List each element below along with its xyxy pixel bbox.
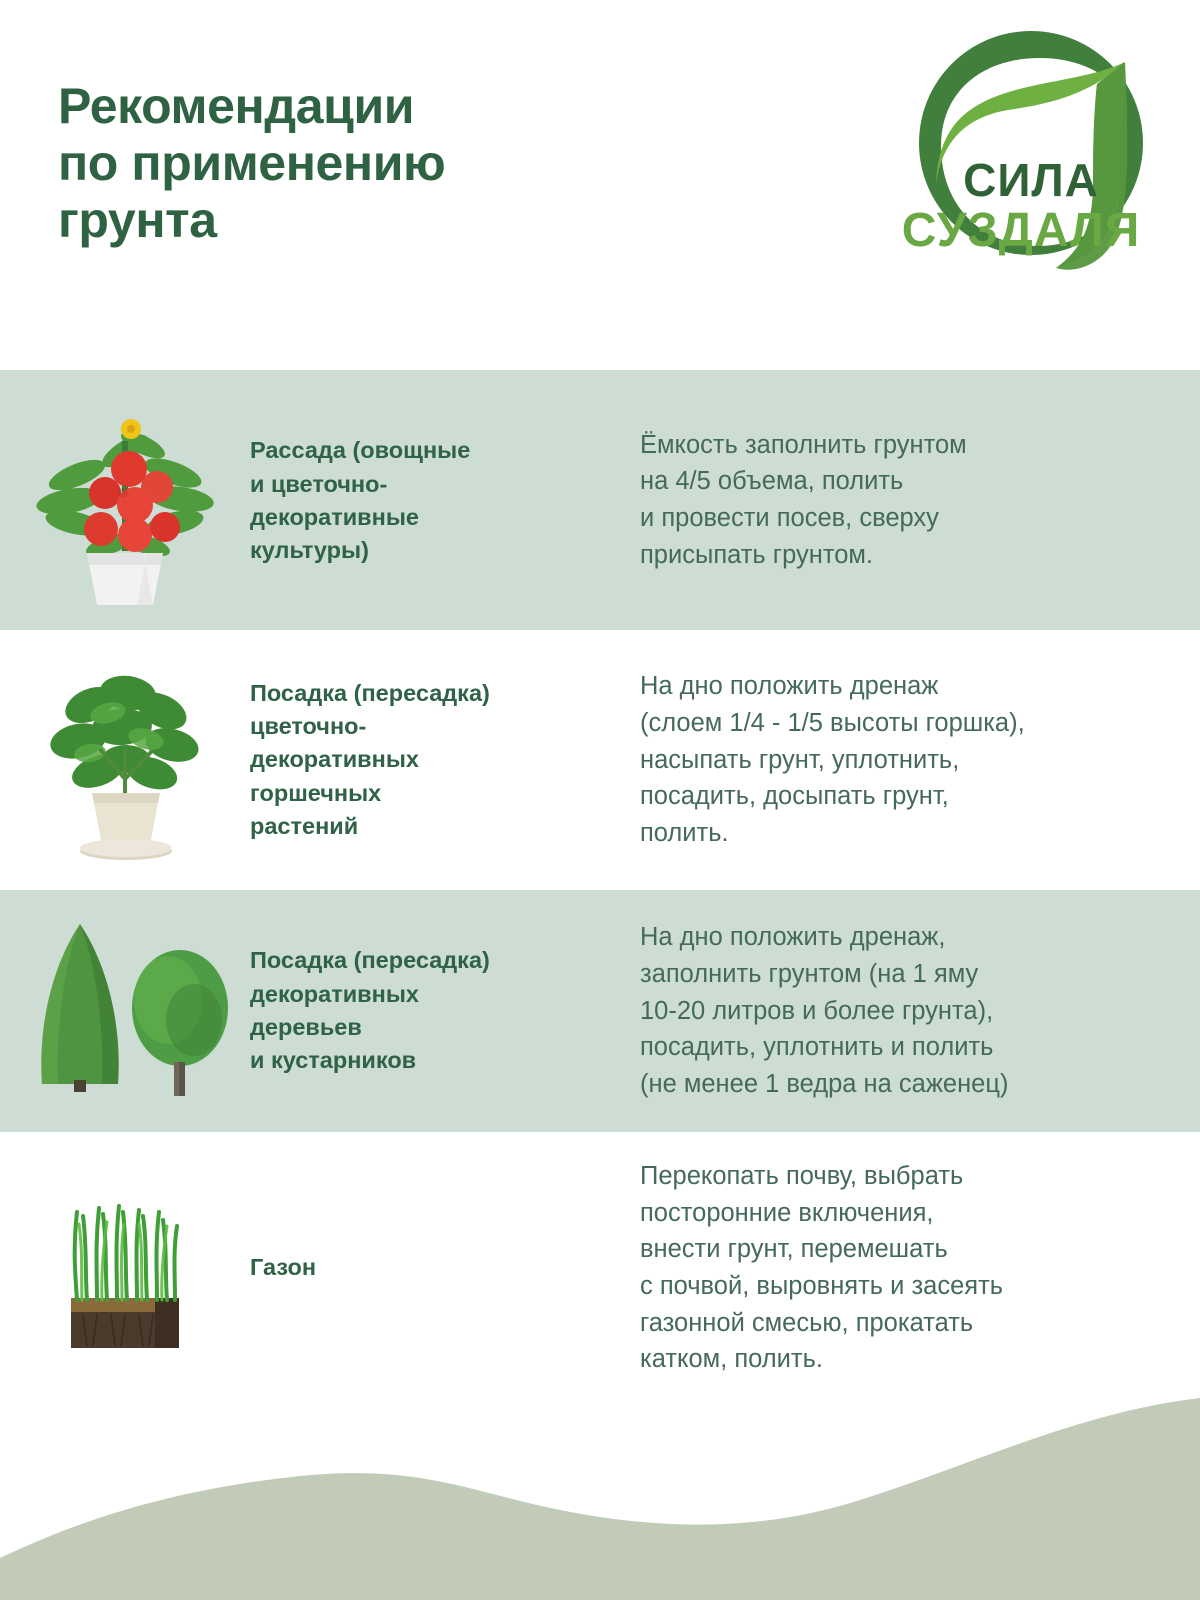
page-title: Рекомендации по применению грунта bbox=[58, 78, 698, 249]
recommendation-list: Рассада (овощные и цветочно- декоративны… bbox=[0, 370, 1200, 1404]
page-header: Рекомендации по применению грунта СИЛА С… bbox=[0, 0, 1200, 370]
row-media bbox=[0, 1132, 250, 1404]
list-item: Посадка (пересадка) декоративных деревье… bbox=[0, 890, 1200, 1132]
tomato-plant-in-pot-icon bbox=[25, 393, 225, 608]
two-decorative-trees-icon bbox=[18, 916, 233, 1106]
row-title: Посадка (пересадка) цветочно- декоративн… bbox=[250, 677, 640, 844]
footer-wave-decoration bbox=[0, 1380, 1200, 1600]
brand-logo: СИЛА СУЗДАЛЯ bbox=[888, 18, 1173, 290]
wave-shape-icon bbox=[0, 1398, 1200, 1600]
row-description: На дно положить дренаж, заполнить грунто… bbox=[640, 919, 1200, 1103]
logo-text-suzdalya: СУЗДАЛЯ bbox=[902, 204, 1141, 257]
row-title: Посадка (пересадка) декоративных деревье… bbox=[250, 944, 640, 1077]
list-item: Рассада (овощные и цветочно- декоративны… bbox=[0, 370, 1200, 630]
row-description: Ёмкость заполнить грунтом на 4/5 объема,… bbox=[640, 427, 1200, 574]
row-media bbox=[0, 890, 250, 1132]
logo-text-sila: СИЛА bbox=[963, 154, 1099, 206]
list-item: Посадка (пересадка) цветочно- декоративн… bbox=[0, 630, 1200, 890]
row-description: Перекопать почву, выбрать посторонние вк… bbox=[640, 1158, 1200, 1378]
row-media bbox=[0, 630, 250, 890]
potted-foliage-plant-icon bbox=[30, 653, 220, 868]
list-item: Газон Перекопать почву, выбрать посторон… bbox=[0, 1132, 1200, 1404]
row-title: Газон bbox=[250, 1251, 640, 1284]
lawn-turf-block-icon bbox=[25, 1168, 225, 1368]
row-title: Рассада (овощные и цветочно- декоративны… bbox=[250, 432, 640, 567]
row-media bbox=[0, 370, 250, 630]
row-description: На дно положить дренаж (слоем 1/4 - 1/5 … bbox=[640, 668, 1200, 852]
